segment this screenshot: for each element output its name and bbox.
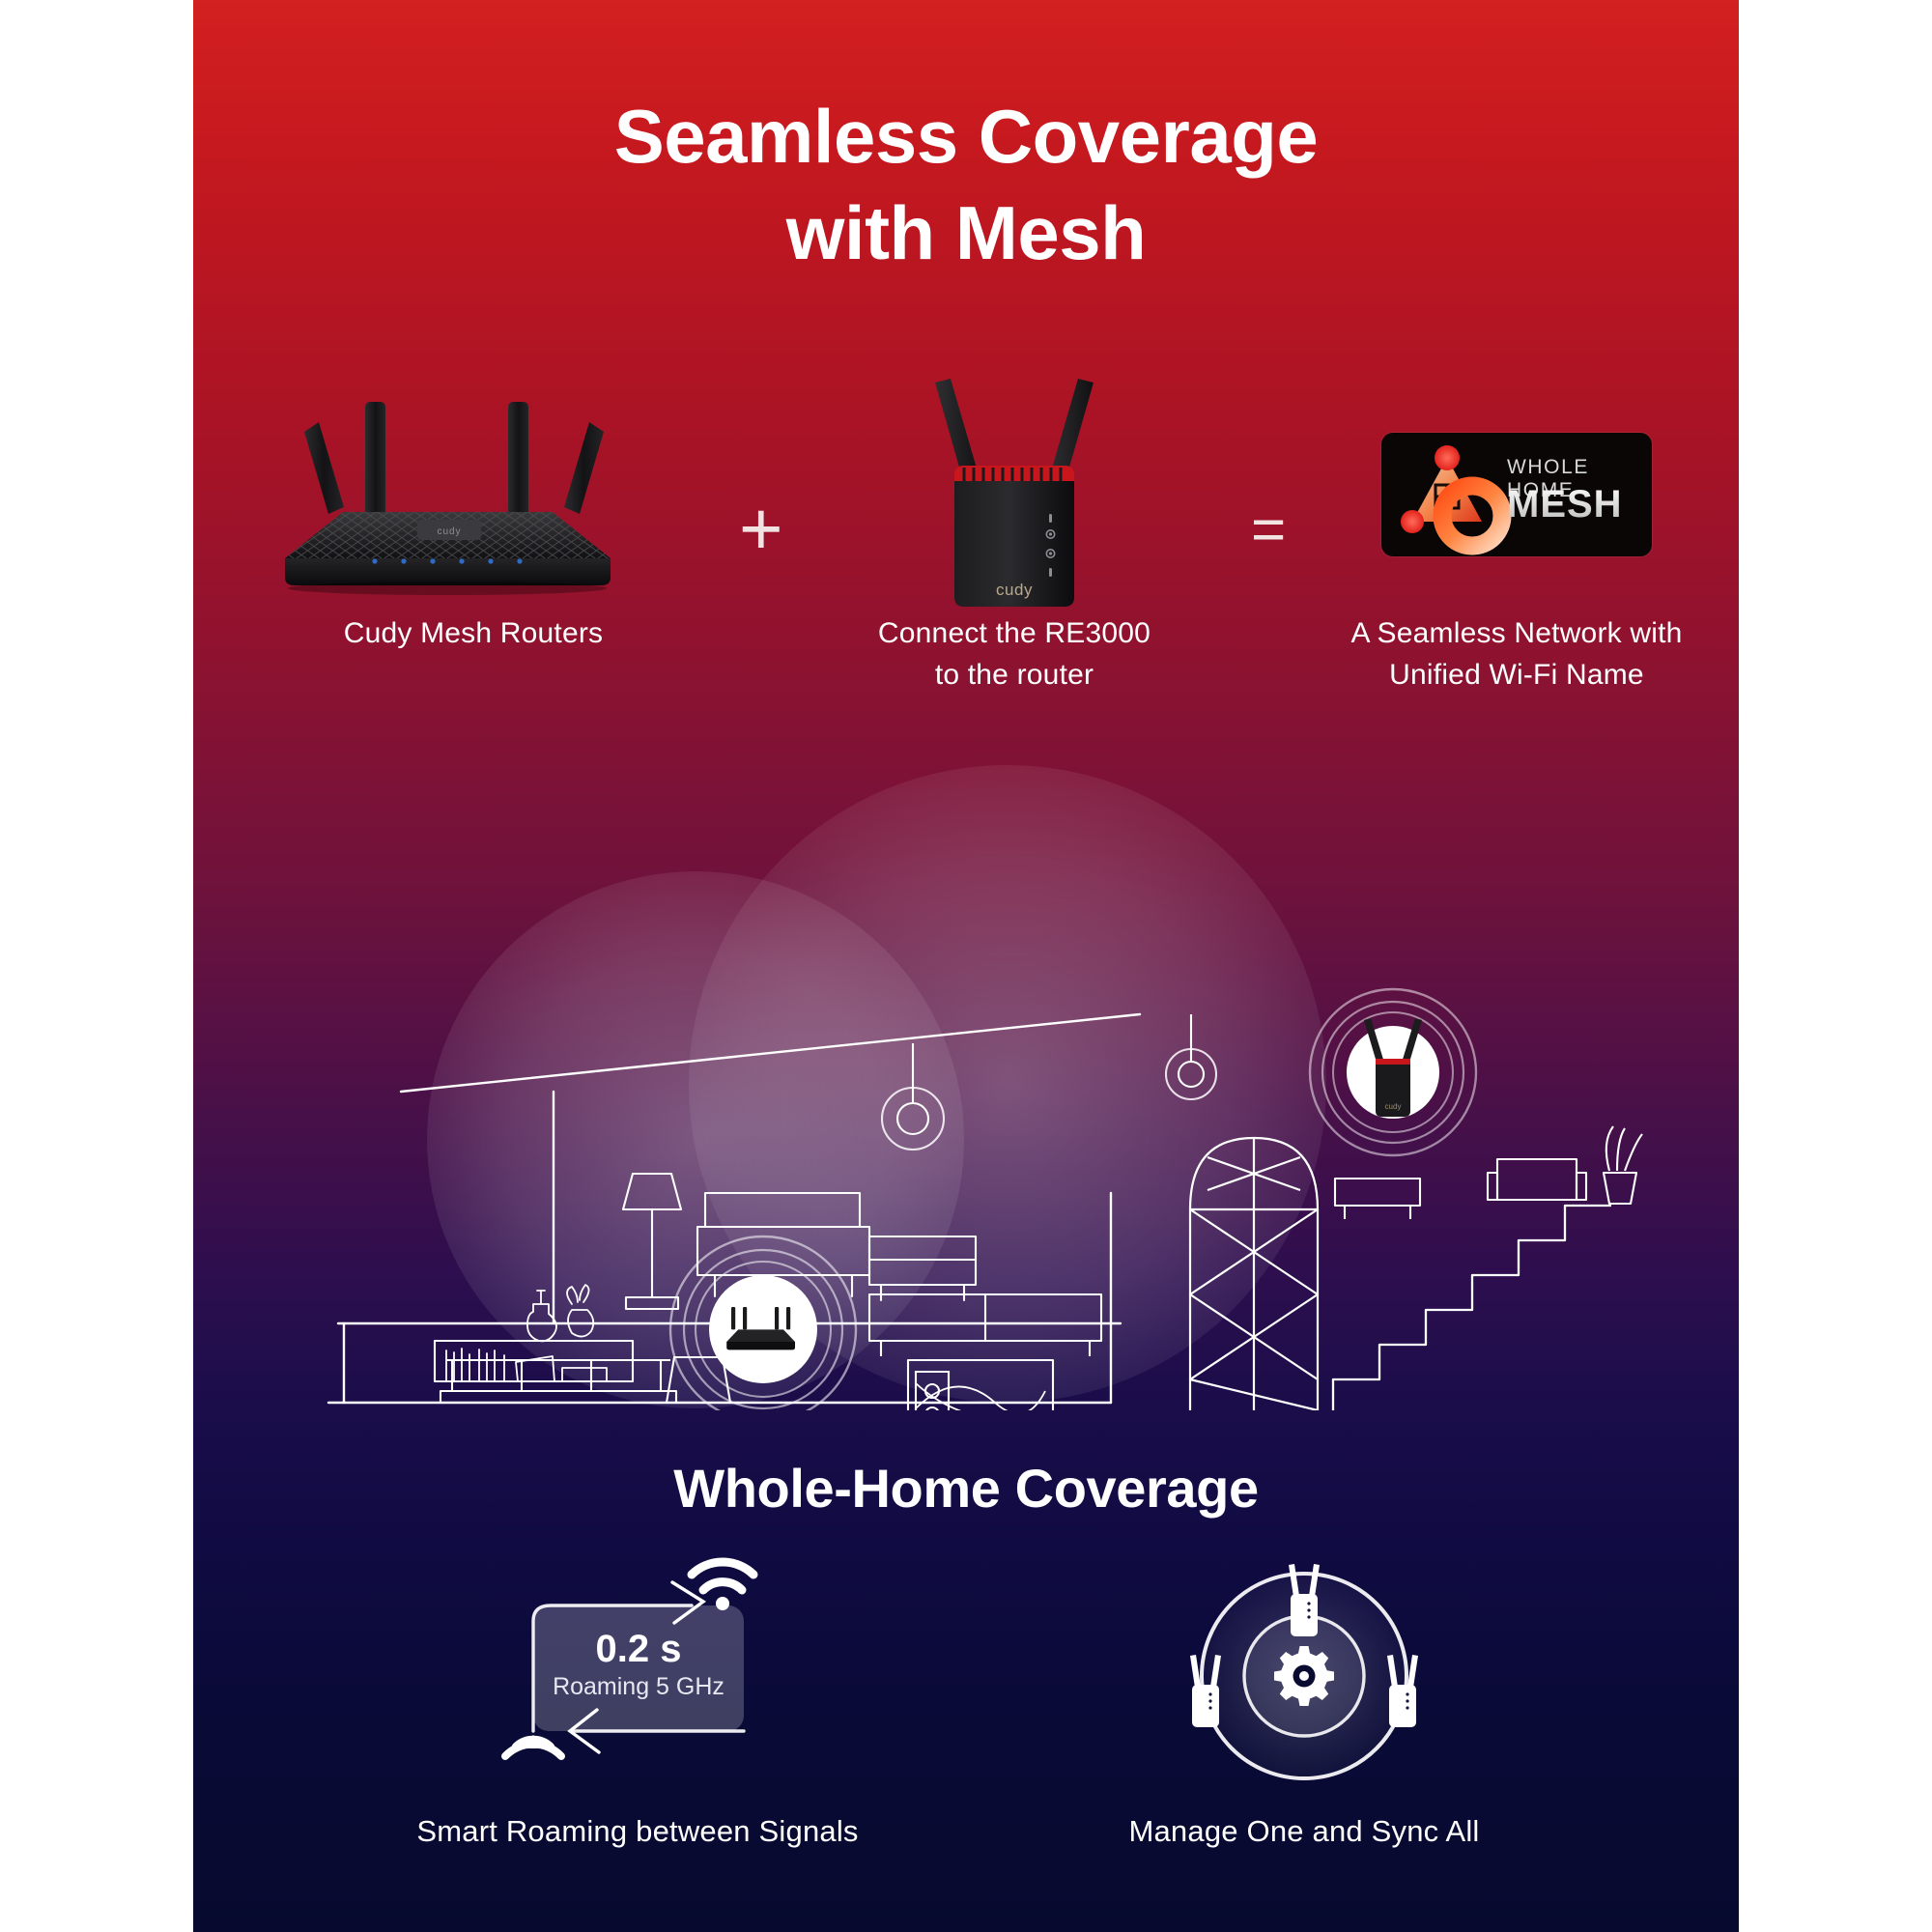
gear-icon <box>1274 1646 1334 1706</box>
roaming-value: 0.2 s <box>596 1628 682 1670</box>
router-circle-backdrop <box>709 1275 817 1383</box>
step-router-caption: Cudy Mesh Routers <box>251 613 696 655</box>
feature-manage-label: Manage One and Sync All <box>1034 1814 1575 1849</box>
extender-device-node: cudy <box>1310 989 1476 1155</box>
infographic-page: Seamless Coverage with Mesh <box>0 0 1932 1932</box>
range-extender-icon: cudy <box>821 377 1207 618</box>
house-coverage-illustration: cudy <box>193 753 1739 1410</box>
caption-line-1: A Seamless Network with <box>1304 613 1729 655</box>
svg-text:cudy: cudy <box>1385 1102 1402 1111</box>
gradient-canvas: Seamless Coverage with Mesh <box>193 0 1739 1932</box>
page-title: Seamless Coverage with Mesh <box>193 89 1739 282</box>
plant-icon <box>1604 1126 1642 1204</box>
badge-line-2: MESH <box>1507 483 1623 526</box>
title-line-1: Seamless Coverage <box>193 89 1739 185</box>
caption-line-2: to the router <box>821 655 1207 696</box>
caption-line-1: Cudy Mesh Routers <box>251 613 696 655</box>
equals-operator: = <box>1251 500 1286 560</box>
svg-text:cudy: cudy <box>996 581 1033 599</box>
gear-sync-icon <box>1034 1546 1575 1806</box>
roaming-sublabel: Roaming 5 GHz <box>553 1673 724 1700</box>
armchair-icon <box>1497 1159 1577 1200</box>
caption-line-2: Unified Wi-Fi Name <box>1304 655 1729 696</box>
house-scene-svg: cudy <box>193 753 1739 1410</box>
mesh-house-icon <box>1387 433 1513 556</box>
step-extender: cudy Connect the RE3000 to the router <box>821 377 1207 623</box>
feature-roaming-label: Smart Roaming between Signals <box>367 1814 908 1849</box>
step-router: cudy Cudy Mesh Routers <box>251 377 696 604</box>
caption-line-1: Connect the RE3000 <box>821 613 1207 655</box>
mesh-router-icon: cudy <box>251 377 696 599</box>
section-heading: Whole-Home Coverage <box>193 1457 1739 1520</box>
wifi-signal-bottom <box>505 1735 561 1756</box>
plus-operator: + <box>739 491 783 566</box>
staircase-icon <box>1333 1206 1611 1410</box>
wifi-roaming-icon: 0.2 s Roaming 5 GHz <box>367 1546 908 1806</box>
bench-icon <box>1335 1179 1420 1206</box>
feature-manage-sync: Manage One and Sync All <box>1034 1546 1575 1806</box>
svg-text:cudy: cudy <box>437 526 461 537</box>
step-extender-caption: Connect the RE3000 to the router <box>821 613 1207 696</box>
whole-home-mesh-badge: WHOLE HOME MESH <box>1381 433 1652 556</box>
step-badge-caption: A Seamless Network with Unified Wi-Fi Na… <box>1304 613 1729 696</box>
feature-smart-roaming: 0.2 s Roaming 5 GHz Smart Roaming betwee… <box>367 1546 908 1806</box>
product-step-row: cudy Cudy Mesh Routers + <box>193 377 1739 667</box>
title-line-2: with Mesh <box>193 185 1739 282</box>
